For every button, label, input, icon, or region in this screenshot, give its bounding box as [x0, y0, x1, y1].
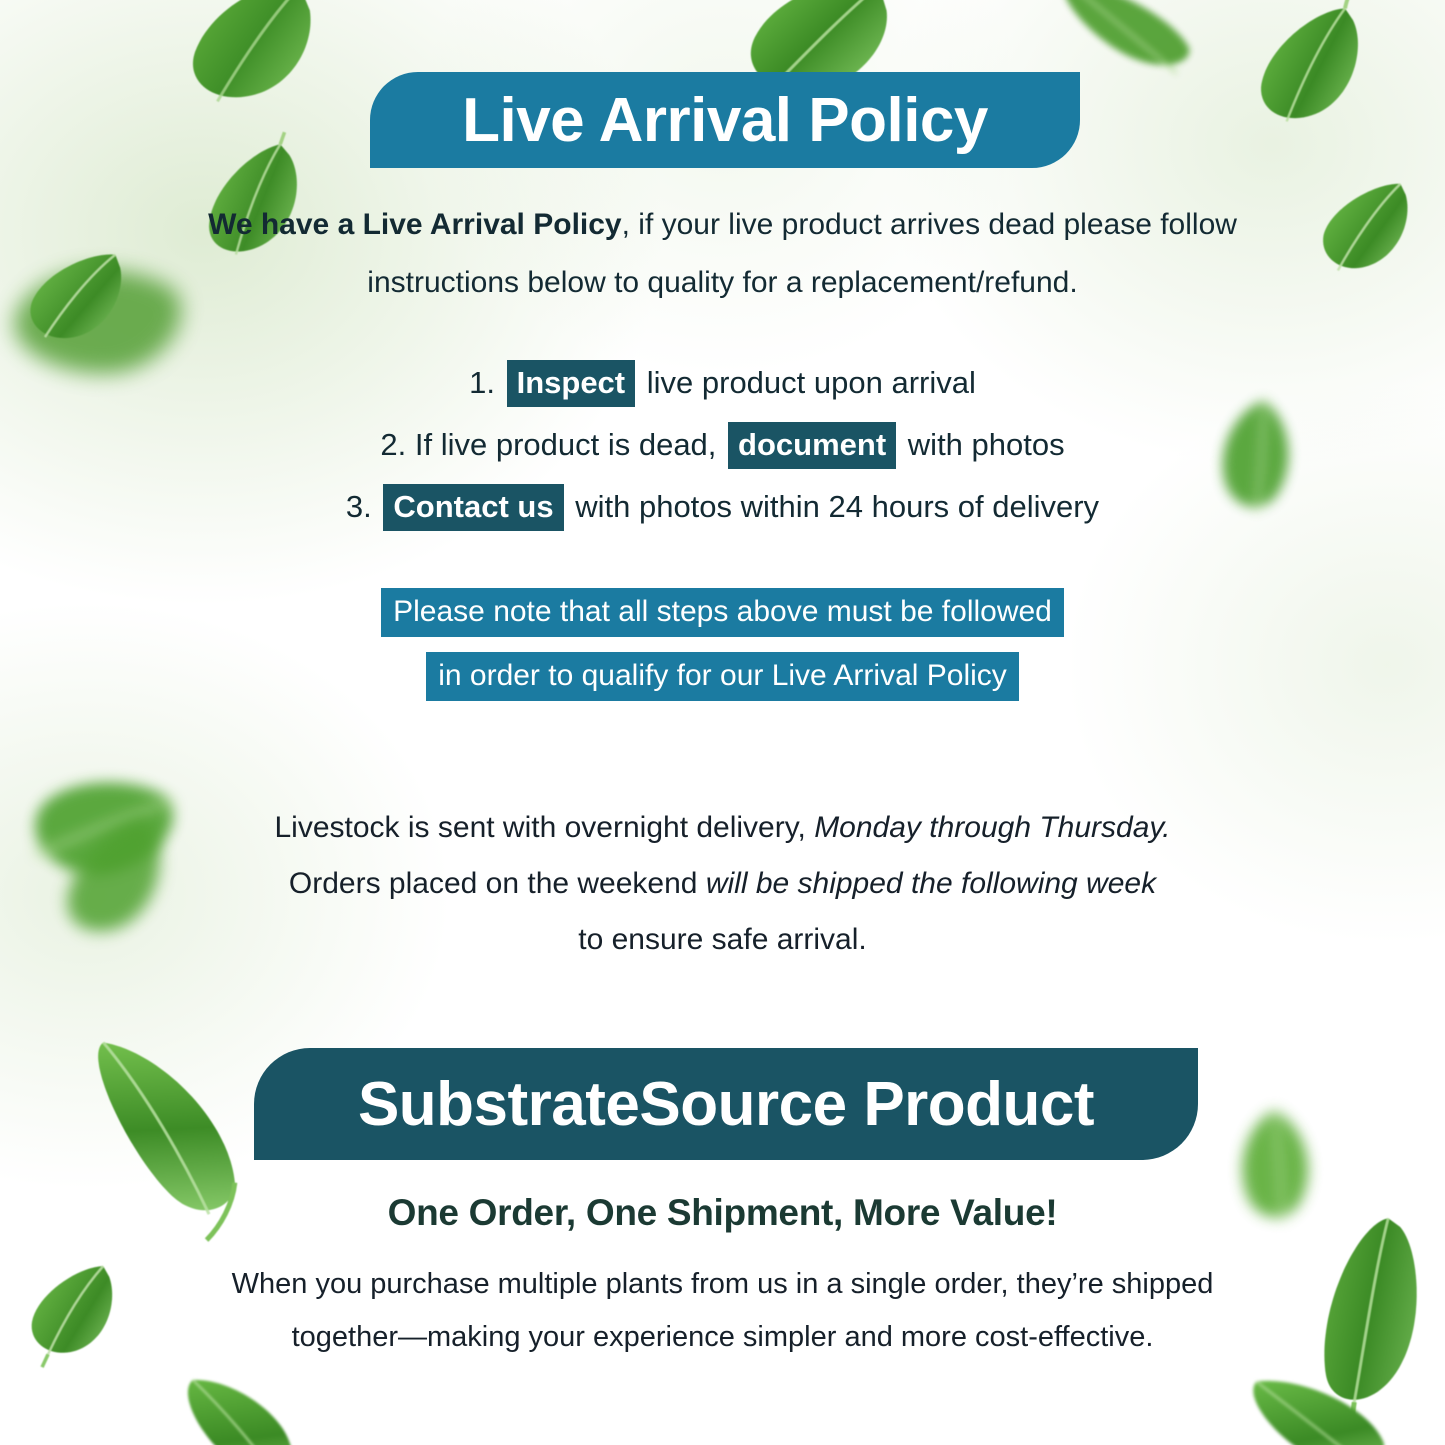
live-arrival-policy-infographic: Live Arrival Policy We have a Live Arriv…: [0, 0, 1445, 1445]
intro-bold-phrase: We have a Live Arrival Policy: [208, 208, 622, 241]
policy-note-line-1: Please note that all steps above must be…: [381, 588, 1064, 637]
policy-step-2: 2. If live product is dead, document wit…: [160, 414, 1285, 476]
policy-note-row-2: in order to qualify for our Live Arrival…: [160, 644, 1285, 708]
product-subheading: One Order, One Shipment, More Value!: [160, 1192, 1285, 1234]
product-description-line-1: When you purchase multiple plants from u…: [232, 1268, 1214, 1300]
shipping-line-2-italic: will be shipped the following week: [706, 867, 1156, 900]
policy-intro-paragraph: We have a Live Arrival Policy, if your l…: [160, 196, 1285, 312]
intro-rest-phrase: , if your live product arrives dead plea…: [622, 208, 1237, 241]
step-2-number: 2.: [380, 427, 406, 462]
live-arrival-policy-title: Live Arrival Policy: [462, 85, 988, 156]
step-2-highlight: document: [728, 422, 896, 469]
step-3-highlight: Contact us: [383, 484, 563, 531]
content-layer: Live Arrival Policy We have a Live Arriv…: [0, 0, 1445, 1445]
step-1-number: 1.: [469, 365, 495, 400]
policy-note: Please note that all steps above must be…: [160, 580, 1285, 708]
policy-steps-list: 1. Inspect live product upon arrival 2. …: [160, 352, 1285, 538]
step-1-highlight: Inspect: [507, 360, 636, 407]
step-2-pretext: If live product is dead,: [415, 427, 717, 462]
substratesource-product-banner: SubstrateSource Product: [254, 1048, 1198, 1160]
product-description-line-2: together—making your experience simpler …: [292, 1321, 1154, 1353]
shipping-schedule-paragraph: Livestock is sent with overnight deliver…: [160, 800, 1285, 968]
intro-line-2: instructions below to quality for a repl…: [367, 266, 1077, 299]
shipping-line-3: to ensure safe arrival.: [578, 923, 866, 956]
policy-step-3: 3. Contact us with photos within 24 hour…: [160, 476, 1285, 538]
policy-step-1: 1. Inspect live product upon arrival: [160, 352, 1285, 414]
step-2-text: with photos: [908, 427, 1065, 462]
shipping-line-1-italic: Monday through Thursday.: [814, 811, 1170, 844]
substratesource-product-title: SubstrateSource Product: [358, 1069, 1094, 1140]
shipping-line-1-plain: Livestock is sent with overnight deliver…: [275, 811, 806, 844]
shipping-line-2-plain: Orders placed on the weekend: [289, 867, 698, 900]
policy-note-row-1: Please note that all steps above must be…: [160, 580, 1285, 644]
live-arrival-policy-banner: Live Arrival Policy: [370, 72, 1080, 168]
policy-note-line-2: in order to qualify for our Live Arrival…: [426, 652, 1019, 701]
step-3-number: 3.: [346, 489, 372, 524]
step-1-text: live product upon arrival: [647, 365, 976, 400]
step-3-text: with photos within 24 hours of delivery: [575, 489, 1099, 524]
product-description: When you purchase multiple plants from u…: [150, 1258, 1295, 1364]
